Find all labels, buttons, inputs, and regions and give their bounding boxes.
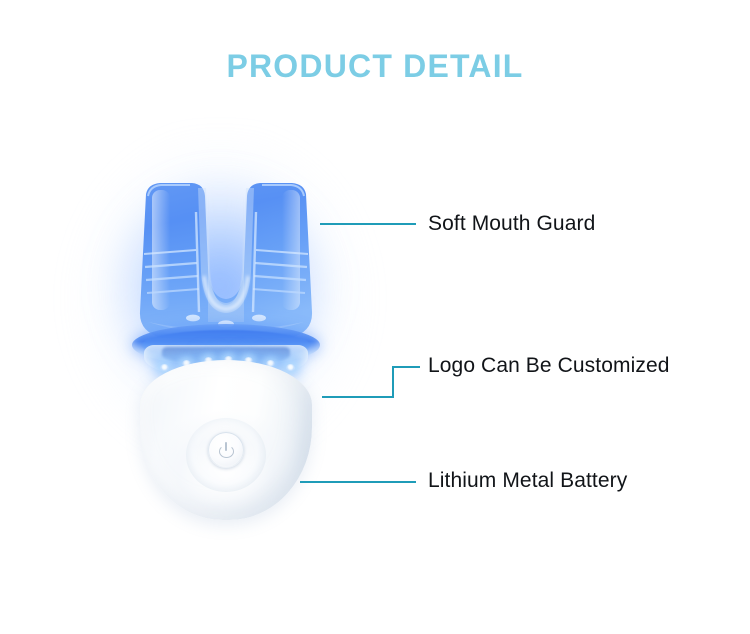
mouth-guard-tray [130,172,322,372]
product-detail-page: PRODUCT DETAIL [0,0,750,634]
callout-line-logo-upper [392,366,420,368]
callout-label-lithium-metal-battery: Lithium Metal Battery [428,469,627,493]
callout-line-logo-riser [392,366,394,398]
page-title: PRODUCT DETAIL [0,48,750,85]
callout-line-soft-mouth-guard [320,223,416,225]
callout-line-logo-lower [322,396,394,398]
led-light [160,364,169,371]
led-light [286,364,295,371]
power-button[interactable] [208,432,244,468]
power-icon [219,443,234,458]
callout-label-soft-mouth-guard: Soft Mouth Guard [428,212,595,236]
callout-line-lithium-metal-battery [300,481,416,483]
product-image [100,160,350,540]
callout-label-logo-can-be-customized: Logo Can Be Customized [428,354,670,378]
